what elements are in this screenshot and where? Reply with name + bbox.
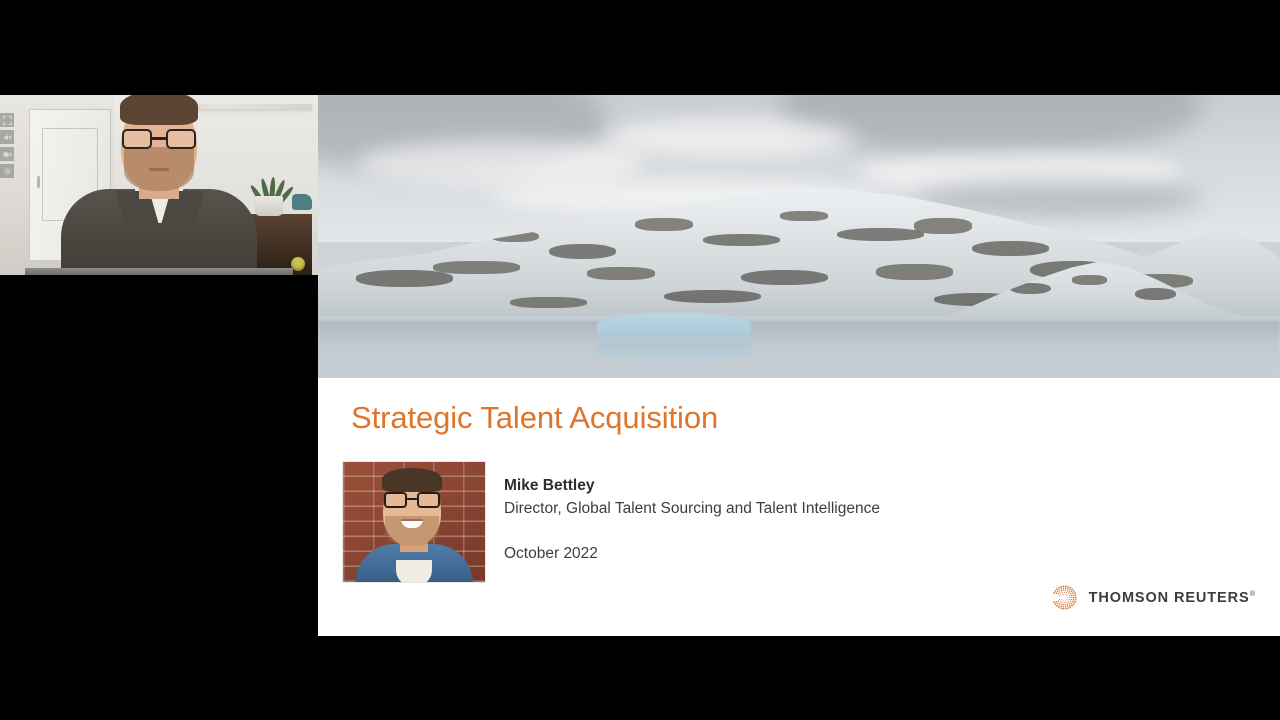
thomson-reuters-logo: THOMSON REUTERS® bbox=[1050, 583, 1256, 612]
headshot-hair bbox=[382, 468, 442, 492]
thomson-reuters-kinesis-icon bbox=[1050, 583, 1079, 612]
glasses-lens-right bbox=[417, 492, 440, 508]
shared-presentation-slide[interactable]: Strategic Talent Acquisition bbox=[318, 95, 1280, 636]
plant-pot bbox=[255, 196, 283, 216]
presenter-webcam[interactable] bbox=[0, 95, 318, 275]
presenter-name: Mike Bettley bbox=[504, 475, 880, 497]
screen-root: Strategic Talent Acquisition bbox=[0, 0, 1280, 720]
presenter-headshot bbox=[342, 461, 486, 583]
cabinet-knob bbox=[291, 257, 305, 271]
glasses-lens-left bbox=[122, 129, 152, 149]
glasses-icon bbox=[122, 129, 196, 149]
desk-edge bbox=[25, 268, 292, 275]
iceberg bbox=[597, 313, 751, 338]
presenter-person bbox=[59, 125, 259, 275]
glasses-bridge bbox=[152, 137, 166, 140]
thomson-reuters-wordmark: THOMSON REUTERS® bbox=[1089, 589, 1256, 606]
door-knob bbox=[37, 176, 40, 188]
settings-icon[interactable] bbox=[0, 164, 14, 178]
iceberg-reflection bbox=[597, 341, 751, 364]
water-reflection bbox=[318, 321, 1280, 378]
glasses-lens-left bbox=[384, 492, 407, 508]
glasses-lens-right bbox=[166, 129, 196, 149]
camera-icon[interactable] bbox=[0, 147, 14, 161]
presenter-details: Mike Bettley Director, Global Talent Sou… bbox=[504, 461, 880, 563]
arctic-landscape-photo bbox=[318, 95, 1280, 378]
registered-trademark-symbol: ® bbox=[1250, 589, 1256, 598]
webcam-video-frame bbox=[0, 95, 318, 275]
mute-icon[interactable] bbox=[0, 130, 14, 144]
teal-decor-object bbox=[292, 194, 312, 210]
wordmark-text: THOMSON REUTERS bbox=[1089, 590, 1250, 606]
glasses-icon bbox=[384, 492, 440, 508]
slide-content: Strategic Talent Acquisition bbox=[318, 378, 1280, 636]
presenter-mouth bbox=[149, 168, 169, 171]
white-tshirt bbox=[396, 560, 432, 583]
cloud bbox=[356, 140, 645, 185]
presenter-hair bbox=[120, 95, 198, 125]
resize-icon[interactable] bbox=[0, 113, 14, 127]
cloud bbox=[607, 118, 857, 158]
video-controls-overlay[interactable] bbox=[0, 113, 14, 181]
page-title: Strategic Talent Acquisition bbox=[351, 400, 718, 436]
headshot-person bbox=[355, 474, 473, 583]
glasses-bridge bbox=[407, 498, 417, 500]
presenter-torso bbox=[61, 189, 257, 275]
presentation-date: October 2022 bbox=[504, 545, 880, 563]
presenter-block: Mike Bettley Director, Global Talent Sou… bbox=[342, 461, 880, 583]
presenter-role: Director, Global Talent Sourcing and Tal… bbox=[504, 497, 880, 520]
